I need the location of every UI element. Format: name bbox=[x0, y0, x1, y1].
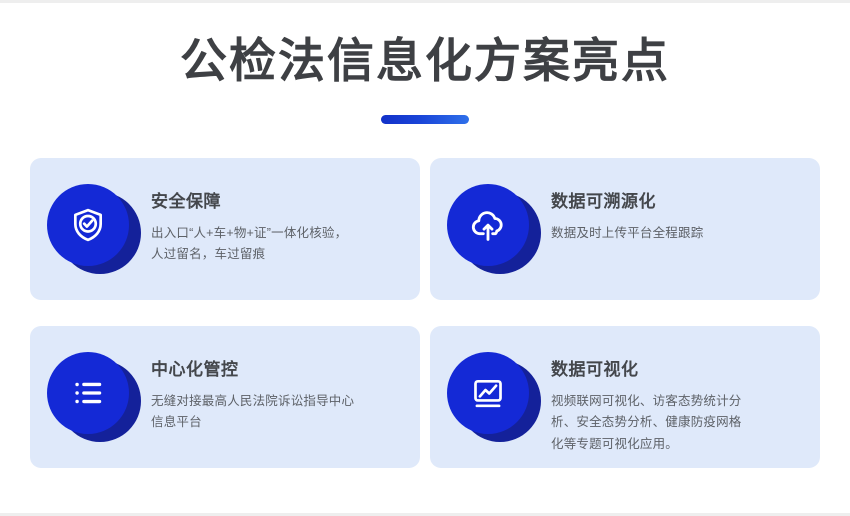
card-text: 数据可视化 视频联网可视化、访客态势统计分析、安全态势分析、健康防疫网格化等专题… bbox=[551, 344, 804, 455]
card-description: 出入口“人+车+物+证”一体化核验，人过留名，车过留痕 bbox=[151, 223, 356, 266]
feature-card-data-visualization[interactable]: 数据可视化 视频联网可视化、访客态势统计分析、安全态势分析、健康防疫网格化等专题… bbox=[430, 326, 820, 468]
bullet-list-icon bbox=[69, 374, 107, 412]
icon-badge bbox=[47, 184, 137, 274]
icon-circle bbox=[47, 184, 129, 266]
feature-card-centralized-control[interactable]: 中心化管控 无缝对接最高人民法院诉讼指导中心信息平台 bbox=[30, 326, 420, 468]
card-description: 无缝对接最高人民法院诉讼指导中心信息平台 bbox=[151, 391, 356, 434]
page-container: 公检法信息化方案亮点 安全保障 出入口“ bbox=[0, 3, 850, 513]
page-title: 公检法信息化方案亮点 bbox=[0, 33, 850, 89]
card-title: 数据可视化 bbox=[551, 360, 804, 380]
icon-badge bbox=[47, 352, 137, 442]
icon-circle bbox=[447, 352, 529, 434]
card-title: 安全保障 bbox=[151, 192, 404, 212]
chart-monitor-icon bbox=[469, 374, 507, 412]
feature-card-data-traceability[interactable]: 数据可溯源化 数据及时上传平台全程跟踪 bbox=[430, 158, 820, 300]
shield-check-icon bbox=[69, 206, 107, 244]
feature-card-security[interactable]: 安全保障 出入口“人+车+物+证”一体化核验，人过留名，车过留痕 bbox=[30, 158, 420, 300]
cloud-upload-icon bbox=[468, 205, 508, 245]
card-description: 数据及时上传平台全程跟踪 bbox=[551, 223, 804, 245]
icon-badge bbox=[447, 184, 537, 274]
icon-badge bbox=[447, 352, 537, 442]
page-header: 公检法信息化方案亮点 bbox=[0, 3, 850, 124]
card-title: 数据可溯源化 bbox=[551, 192, 804, 212]
title-underline-accent bbox=[381, 115, 469, 124]
feature-cards-grid: 安全保障 出入口“人+车+物+证”一体化核验，人过留名，车过留痕 bbox=[30, 158, 820, 468]
icon-circle bbox=[47, 352, 129, 434]
card-description: 视频联网可视化、访客态势统计分析、安全态势分析、健康防疫网格化等专题可视化应用。 bbox=[551, 391, 747, 456]
icon-circle bbox=[447, 184, 529, 266]
card-text: 中心化管控 无缝对接最高人民法院诉讼指导中心信息平台 bbox=[151, 344, 404, 433]
card-text: 数据可溯源化 数据及时上传平台全程跟踪 bbox=[551, 176, 804, 244]
card-title: 中心化管控 bbox=[151, 360, 404, 380]
card-text: 安全保障 出入口“人+车+物+证”一体化核验，人过留名，车过留痕 bbox=[151, 176, 404, 265]
